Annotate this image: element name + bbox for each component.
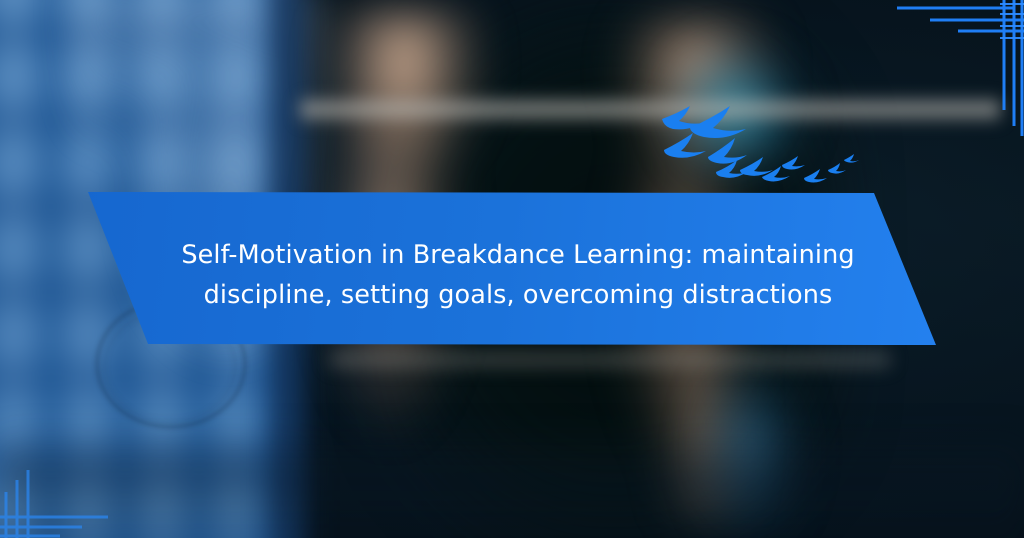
page-title: Self-Motivation in Breakdance Learning: … <box>150 235 886 315</box>
page-title-line-2: discipline, setting goals, overcoming di… <box>150 275 886 315</box>
title-banner: Self-Motivation in Breakdance Learning: … <box>0 0 1024 538</box>
page-title-line-1: Self-Motivation in Breakdance Learning: … <box>150 235 886 275</box>
title-card: Self-Motivation in Breakdance Learning: … <box>0 0 1024 538</box>
